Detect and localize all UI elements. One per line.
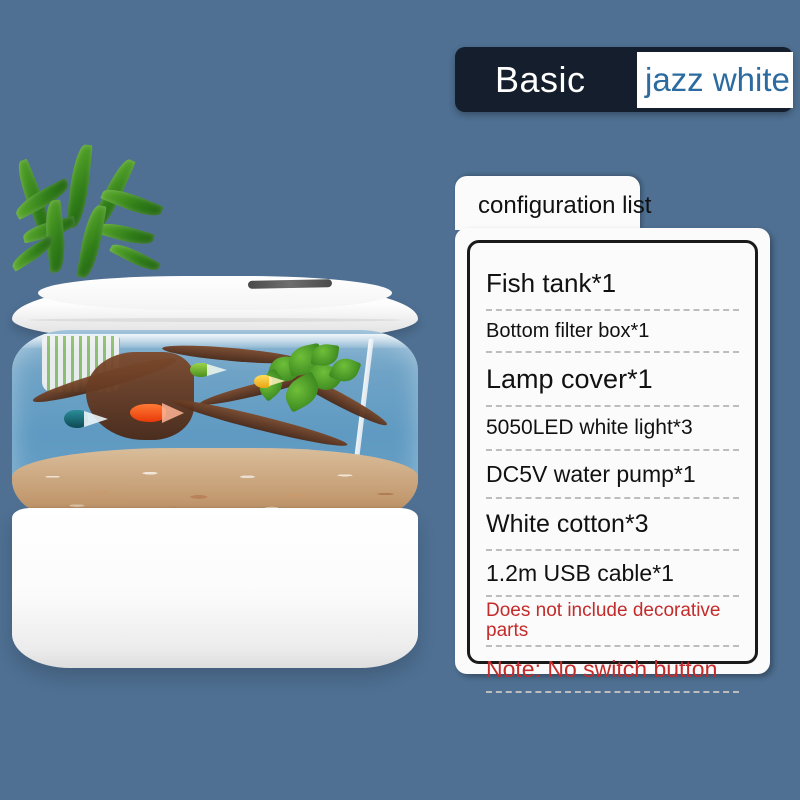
variant-color-label: jazz white (645, 61, 790, 99)
variant-color-chip[interactable]: jazz white (637, 52, 793, 108)
config-list-item: White cotton*3 (486, 499, 739, 551)
config-item-label: Does not include decorative parts (486, 601, 739, 640)
fish-green-guppy (190, 362, 240, 380)
fish-orange-guppy (130, 402, 186, 424)
config-item-label: DC5V water pump*1 (486, 461, 696, 488)
config-list-item: 1.2m USB cable*1 (486, 551, 739, 597)
config-item-label: 5050LED white light*3 (486, 416, 693, 440)
config-item-label: Fish tank*1 (486, 268, 616, 299)
config-item-label: Bottom filter box*1 (486, 320, 649, 343)
fish-teal-guppy (64, 408, 120, 430)
config-item-label: 1.2m USB cable*1 (486, 560, 674, 587)
config-list-item: Note: No switch button (486, 647, 739, 693)
config-list-item: Lamp cover*1 (486, 353, 739, 407)
variant-type-label: Basic (495, 59, 586, 101)
product-listing-image: Basic jazz white configuration list Fish… (0, 0, 800, 800)
variant-titlebar: Basic jazz white (455, 47, 793, 112)
fish-yellow-guppy (254, 374, 294, 390)
configuration-card: Fish tank*1Bottom filter box*1Lamp cover… (455, 228, 770, 674)
configuration-tab-title: configuration list (478, 192, 651, 220)
configuration-item-list: Fish tank*1Bottom filter box*1Lamp cover… (467, 240, 758, 664)
config-item-label: Note: No switch button (486, 656, 717, 683)
config-list-item: Fish tank*1 (486, 257, 739, 311)
driftwood-branch (171, 394, 349, 451)
config-list-item: DC5V water pump*1 (486, 451, 739, 499)
lid-seam (28, 318, 402, 322)
tank-glass-body (12, 330, 418, 520)
lid-top-surface (38, 276, 392, 310)
tank-base-housing (12, 508, 418, 668)
config-item-label: White cotton*3 (486, 510, 649, 539)
top-planter-plant (10, 138, 190, 298)
config-list-item: 5050LED white light*3 (486, 407, 739, 451)
config-list-item: Bottom filter box*1 (486, 311, 739, 353)
config-list-item: Does not include decorative parts (486, 597, 739, 647)
config-item-label: Lamp cover*1 (486, 364, 653, 395)
product-photo (0, 130, 440, 700)
